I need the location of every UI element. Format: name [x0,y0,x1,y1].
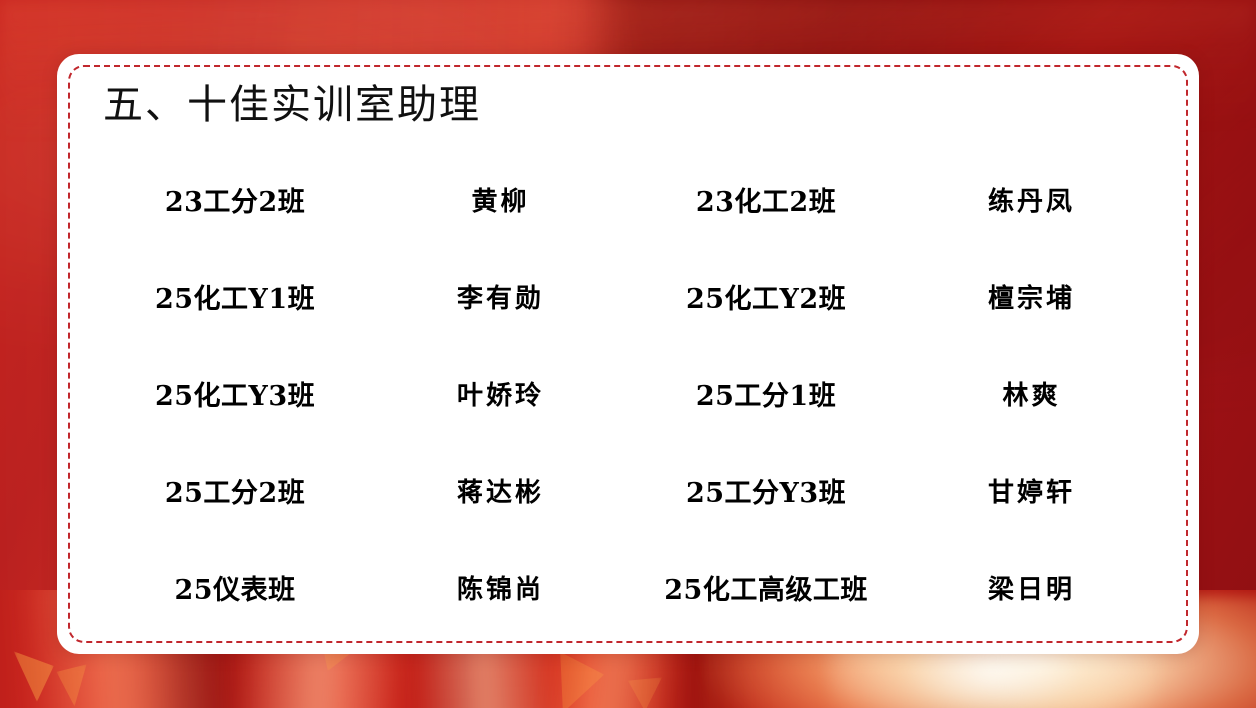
class-cell: 25化工Y2班 [628,248,904,345]
class-cell: 23化工2班 [628,151,904,248]
table-row: 25仪表班 陈锦尚 25化工高级工班 梁日明 [97,539,1159,636]
name-cell: 李有勋 [373,248,628,345]
class-cell: 25化工Y3班 [97,345,373,442]
table-row: 23工分2班 黄柳 23化工2班 练丹凤 [97,151,1159,248]
class-cell: 25工分2班 [97,442,373,539]
name-cell: 梁日明 [904,539,1159,636]
name-cell: 叶娇玲 [373,345,628,442]
class-cell: 25化工高级工班 [628,539,904,636]
name-cell: 陈锦尚 [373,539,628,636]
slide-stage: 五、十佳实训室助理 23工分2班 黄柳 23化工2班 练丹凤 25化工Y1班 李… [0,0,1256,708]
name-cell: 甘婷轩 [904,442,1159,539]
content-card: 五、十佳实训室助理 23工分2班 黄柳 23化工2班 练丹凤 25化工Y1班 李… [57,54,1199,654]
class-cell: 25仪表班 [97,539,373,636]
page-title: 五、十佳实训室助理 [97,82,1159,129]
table-row: 25化工Y3班 叶娇玲 25工分1班 林爽 [97,345,1159,442]
roster-table: 23工分2班 黄柳 23化工2班 练丹凤 25化工Y1班 李有勋 25化工Y2班… [97,151,1159,636]
class-cell: 25工分Y3班 [628,442,904,539]
name-cell: 林爽 [904,345,1159,442]
class-cell: 25工分1班 [628,345,904,442]
name-cell: 练丹凤 [904,151,1159,248]
card-content: 五、十佳实训室助理 23工分2班 黄柳 23化工2班 练丹凤 25化工Y1班 李… [57,54,1199,654]
class-cell: 23工分2班 [97,151,373,248]
name-cell: 檀宗埔 [904,248,1159,345]
table-row: 25工分2班 蒋达彬 25工分Y3班 甘婷轩 [97,442,1159,539]
name-cell: 蒋达彬 [373,442,628,539]
table-row: 25化工Y1班 李有勋 25化工Y2班 檀宗埔 [97,248,1159,345]
name-cell: 黄柳 [373,151,628,248]
class-cell: 25化工Y1班 [97,248,373,345]
